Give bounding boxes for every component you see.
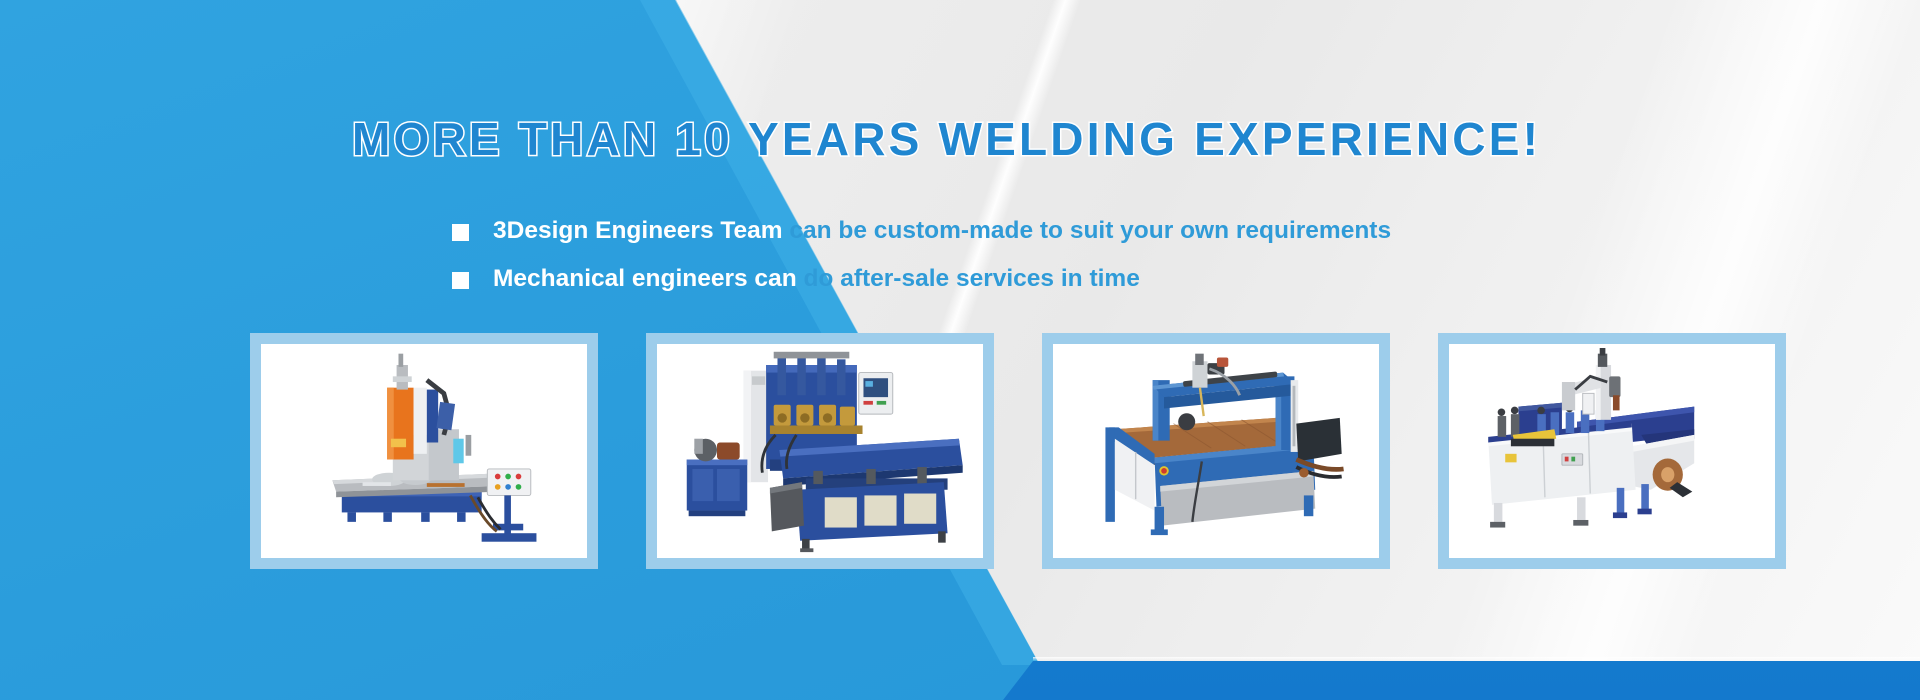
list-item: Mechanical engineers can do after-sale s…	[452, 256, 1512, 302]
feature-text-2: Mechanical engineers can do after-sale s…	[493, 265, 1140, 293]
product-image-3	[1057, 348, 1375, 554]
product-image-2	[661, 348, 979, 554]
feature-text-1: 3Design Engineers Team can be custom-mad…	[493, 217, 1391, 245]
feature-text-1-on-blue: 3Design Engineers Team	[493, 217, 783, 244]
product-card-1[interactable]	[250, 333, 598, 569]
product-gallery	[250, 333, 1786, 569]
feature-list: 3Design Engineers Team can be custom-mad…	[452, 208, 1512, 304]
product-card-4[interactable]	[1438, 333, 1786, 569]
product-image-1	[265, 348, 583, 554]
square-bullet-icon	[452, 224, 469, 241]
list-item: 3Design Engineers Team can be custom-mad…	[452, 208, 1512, 254]
promo-banner: MORE THAN 10 YEARS WELDING EXPERIENCE! 3…	[0, 0, 1920, 700]
feature-text-2-on-blue: Mechanical engineers can	[493, 265, 803, 292]
gantry-seam-welding-machine-icon	[1057, 348, 1375, 554]
rotary-table-spot-welding-machine-icon	[265, 348, 583, 554]
automatic-robot-arm-welding-line-icon	[1453, 348, 1771, 554]
feature-text-1-on-grey: can be custom-made to suit your own requ…	[783, 217, 1392, 244]
product-image-4	[1453, 348, 1771, 554]
background-band-hairline	[1033, 657, 1920, 661]
page-title: MORE THAN 10 YEARS WELDING EXPERIENCE!	[352, 112, 1642, 166]
square-bullet-icon	[452, 272, 469, 289]
product-card-2[interactable]	[646, 333, 994, 569]
multi-head-mesh-welding-machine-icon	[661, 348, 979, 554]
feature-text-2-on-grey: do after-sale services in time	[803, 265, 1139, 292]
product-card-3[interactable]	[1042, 333, 1390, 569]
